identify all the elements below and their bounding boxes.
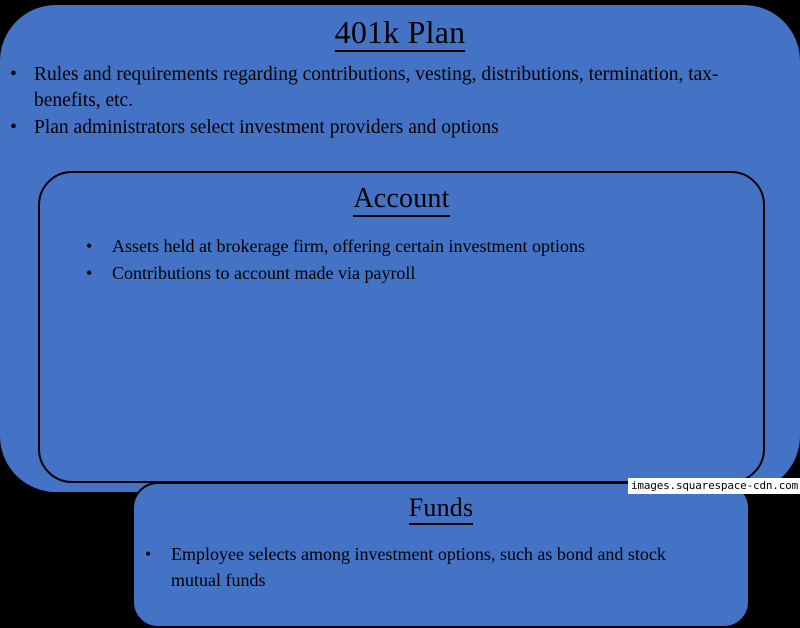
bullet-text: Rules and requirements regarding contrib… [34, 62, 770, 114]
container-account: Account • Assets held at brokerage firm,… [38, 171, 765, 483]
bullet-item: • Assets held at brokerage firm, offerin… [86, 233, 746, 259]
watermark: images.squarespace-cdn.com [628, 478, 800, 494]
container-401k-plan: 401k Plan • Rules and requirements regar… [0, 3, 800, 494]
bullet-item: • Contributions to account made via payr… [86, 260, 746, 286]
bullet-text: Assets held at brokerage firm, offering … [112, 233, 746, 259]
bullet-item: • Employee selects among investment opti… [145, 541, 715, 593]
bullet-dot-icon: • [86, 233, 92, 259]
bullet-item: • Rules and requirements regarding contr… [10, 62, 770, 114]
bullet-list-funds: • Employee selects among investment opti… [145, 541, 715, 593]
container-funds: Funds • Employee selects among investmen… [132, 482, 750, 628]
title-401k-plan-text: 401k Plan [335, 16, 466, 52]
title-funds-text: Funds [409, 495, 474, 525]
bullet-dot-icon: • [10, 115, 17, 141]
bullet-text: Plan administrators select investment pr… [34, 115, 770, 141]
diagram-canvas: 401k Plan • Rules and requirements regar… [0, 0, 800, 497]
bullet-text: Contributions to account made via payrol… [112, 260, 746, 286]
bullet-list-401k-plan: • Rules and requirements regarding contr… [10, 62, 770, 142]
title-401k-plan: 401k Plan [0, 16, 800, 52]
bullet-dot-icon: • [86, 260, 92, 286]
title-account: Account [40, 185, 763, 217]
bullet-list-account: • Assets held at brokerage firm, offerin… [86, 233, 746, 287]
bullet-text: Employee selects among investment option… [171, 541, 715, 593]
title-funds: Funds [134, 495, 748, 525]
bullet-dot-icon: • [10, 62, 17, 88]
bullet-item: • Plan administrators select investment … [10, 115, 770, 141]
bullet-dot-icon: • [145, 541, 151, 567]
title-account-text: Account [353, 185, 449, 217]
